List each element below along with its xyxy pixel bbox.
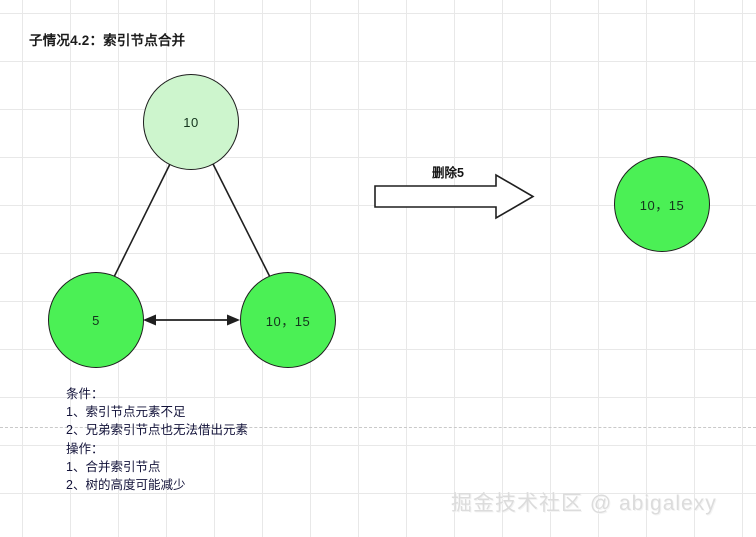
notes-operation-2: 2、树的高度可能减少	[66, 476, 248, 494]
edge-root-to-left	[112, 160, 172, 281]
notes-condition-1: 1、索引节点元素不足	[66, 403, 248, 421]
notes-operations-title: 操作：	[66, 440, 248, 458]
node-leaf-left-label: 5	[92, 313, 100, 328]
edge-root-to-right	[211, 160, 272, 281]
notes-conditions-title: 条件：	[66, 385, 248, 403]
sibling-link-arrow	[143, 315, 240, 326]
node-root-after[interactable]: 10，15	[614, 156, 710, 252]
page-title: 子情况4.2：索引节点合并	[29, 29, 185, 49]
notes-condition-2: 2、兄弟索引节点也无法借出元素	[66, 421, 248, 439]
node-root-after-label: 10，15	[640, 195, 684, 214]
node-leaf-left[interactable]: 5	[48, 272, 144, 368]
node-leaf-right-label: 10，15	[266, 311, 310, 330]
diagram-canvas: 子情况4.2：索引节点合并 10 5 10，15 删除5 10，15 条件： 1…	[0, 0, 756, 537]
transform-block-arrow	[375, 175, 533, 218]
node-root-before-label: 10	[183, 115, 198, 130]
notes-block: 条件： 1、索引节点元素不足 2、兄弟索引节点也无法借出元素 操作： 1、合并索…	[66, 385, 248, 494]
watermark: 掘金技术社区 @ abigalexy	[451, 487, 717, 517]
node-root-before[interactable]: 10	[143, 74, 239, 170]
node-leaf-right[interactable]: 10，15	[240, 272, 336, 368]
operation-label: 删除5	[432, 162, 464, 181]
notes-operation-1: 1、合并索引节点	[66, 458, 248, 476]
